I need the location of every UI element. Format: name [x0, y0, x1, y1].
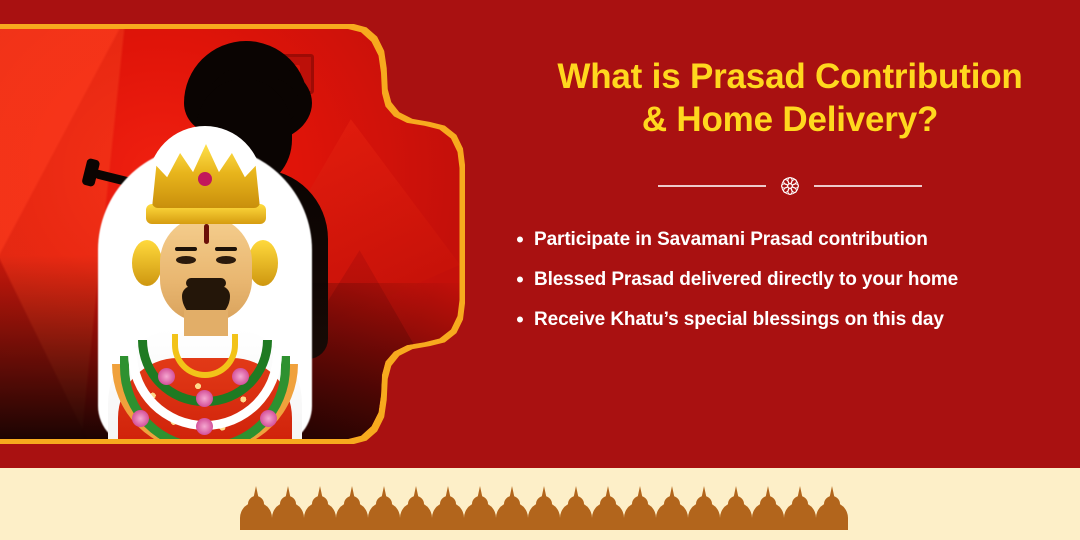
garland-flower — [132, 410, 149, 427]
dome-spire — [541, 486, 547, 500]
list-item-label: Receive Khatu’s special blessings on thi… — [534, 308, 944, 332]
crown-gem — [198, 172, 212, 186]
deity-face — [160, 216, 252, 322]
dome-spire — [285, 486, 291, 500]
page-title-line-2: & Home Delivery? — [500, 99, 1080, 142]
temple-dome-border — [240, 484, 848, 528]
deity-figure — [80, 152, 330, 439]
temple-dome-icon — [752, 486, 784, 528]
temple-dome-icon — [464, 486, 496, 528]
dome-spire — [445, 486, 451, 500]
temple-dome-icon — [400, 486, 432, 528]
bullet-marker-icon: • — [510, 268, 530, 292]
temple-dome-icon — [368, 486, 400, 528]
dome-spire — [637, 486, 643, 500]
temple-dome-icon — [688, 486, 720, 528]
temple-dome-icon — [624, 486, 656, 528]
list-item-label: Participate in Savamani Prasad contribut… — [534, 228, 928, 252]
deity-neck — [184, 310, 228, 336]
garland-flower — [196, 390, 213, 407]
deity-eye-right — [216, 256, 236, 264]
image-panel — [0, 29, 460, 439]
temple-dome-icon — [304, 486, 336, 528]
dome-spire — [317, 486, 323, 500]
footer-band — [0, 468, 1080, 540]
list-item: • Blessed Prasad delivered directly to y… — [510, 268, 1080, 292]
dome-spire — [477, 486, 483, 500]
list-item: • Participate in Savamani Prasad contrib… — [510, 228, 1080, 252]
temple-dome-icon — [272, 486, 304, 528]
temple-dome-icon — [656, 486, 688, 528]
temple-dome-icon — [592, 486, 624, 528]
page-title: What is Prasad Contribution & Home Deliv… — [500, 56, 1080, 141]
temple-dome-icon — [816, 486, 848, 528]
deity-brow-left — [175, 247, 197, 251]
temple-dome-icon — [432, 486, 464, 528]
divider-rule-left — [658, 185, 766, 187]
deity-eye-left — [176, 256, 196, 264]
temple-dome-icon — [784, 486, 816, 528]
rosette-medallion-icon — [778, 174, 802, 198]
dome-spire — [253, 486, 259, 500]
list-item: • Receive Khatu’s special blessings on t… — [510, 308, 1080, 332]
content-column: What is Prasad Contribution & Home Deliv… — [500, 0, 1080, 470]
temple-dome-icon — [560, 486, 592, 528]
bullet-marker-icon: • — [510, 308, 530, 332]
garland-flower — [196, 418, 213, 435]
deity-brow-right — [215, 247, 237, 251]
temple-dome-icon — [496, 486, 528, 528]
section-divider — [500, 172, 1080, 200]
dome-spire — [701, 486, 707, 500]
dome-spire — [733, 486, 739, 500]
tilak-mark — [204, 224, 209, 244]
bullet-marker-icon: • — [510, 228, 530, 252]
dome-spire — [829, 486, 835, 500]
list-item-label: Blessed Prasad delivered directly to you… — [534, 268, 958, 292]
dome-spire — [381, 486, 387, 500]
dome-spire — [413, 486, 419, 500]
garland-flower — [260, 410, 277, 427]
dome-spire — [509, 486, 515, 500]
dome-spire — [605, 486, 611, 500]
divider-rule-right — [814, 185, 922, 187]
dome-spire — [765, 486, 771, 500]
dome-spire — [349, 486, 355, 500]
dome-spire — [573, 486, 579, 500]
garland-flower — [158, 368, 175, 385]
garland-flower — [232, 368, 249, 385]
feature-list: • Participate in Savamani Prasad contrib… — [510, 228, 1080, 348]
page-title-line-1: What is Prasad Contribution — [557, 57, 1022, 96]
dome-spire — [797, 486, 803, 500]
temple-dome-icon — [240, 486, 272, 528]
deity-ear-right — [248, 240, 278, 286]
temple-dome-icon — [528, 486, 560, 528]
dome-spire — [669, 486, 675, 500]
deity-ear-left — [132, 240, 162, 286]
temple-dome-icon — [720, 486, 752, 528]
promo-banner: What is Prasad Contribution & Home Deliv… — [0, 0, 1080, 540]
temple-dome-icon — [336, 486, 368, 528]
